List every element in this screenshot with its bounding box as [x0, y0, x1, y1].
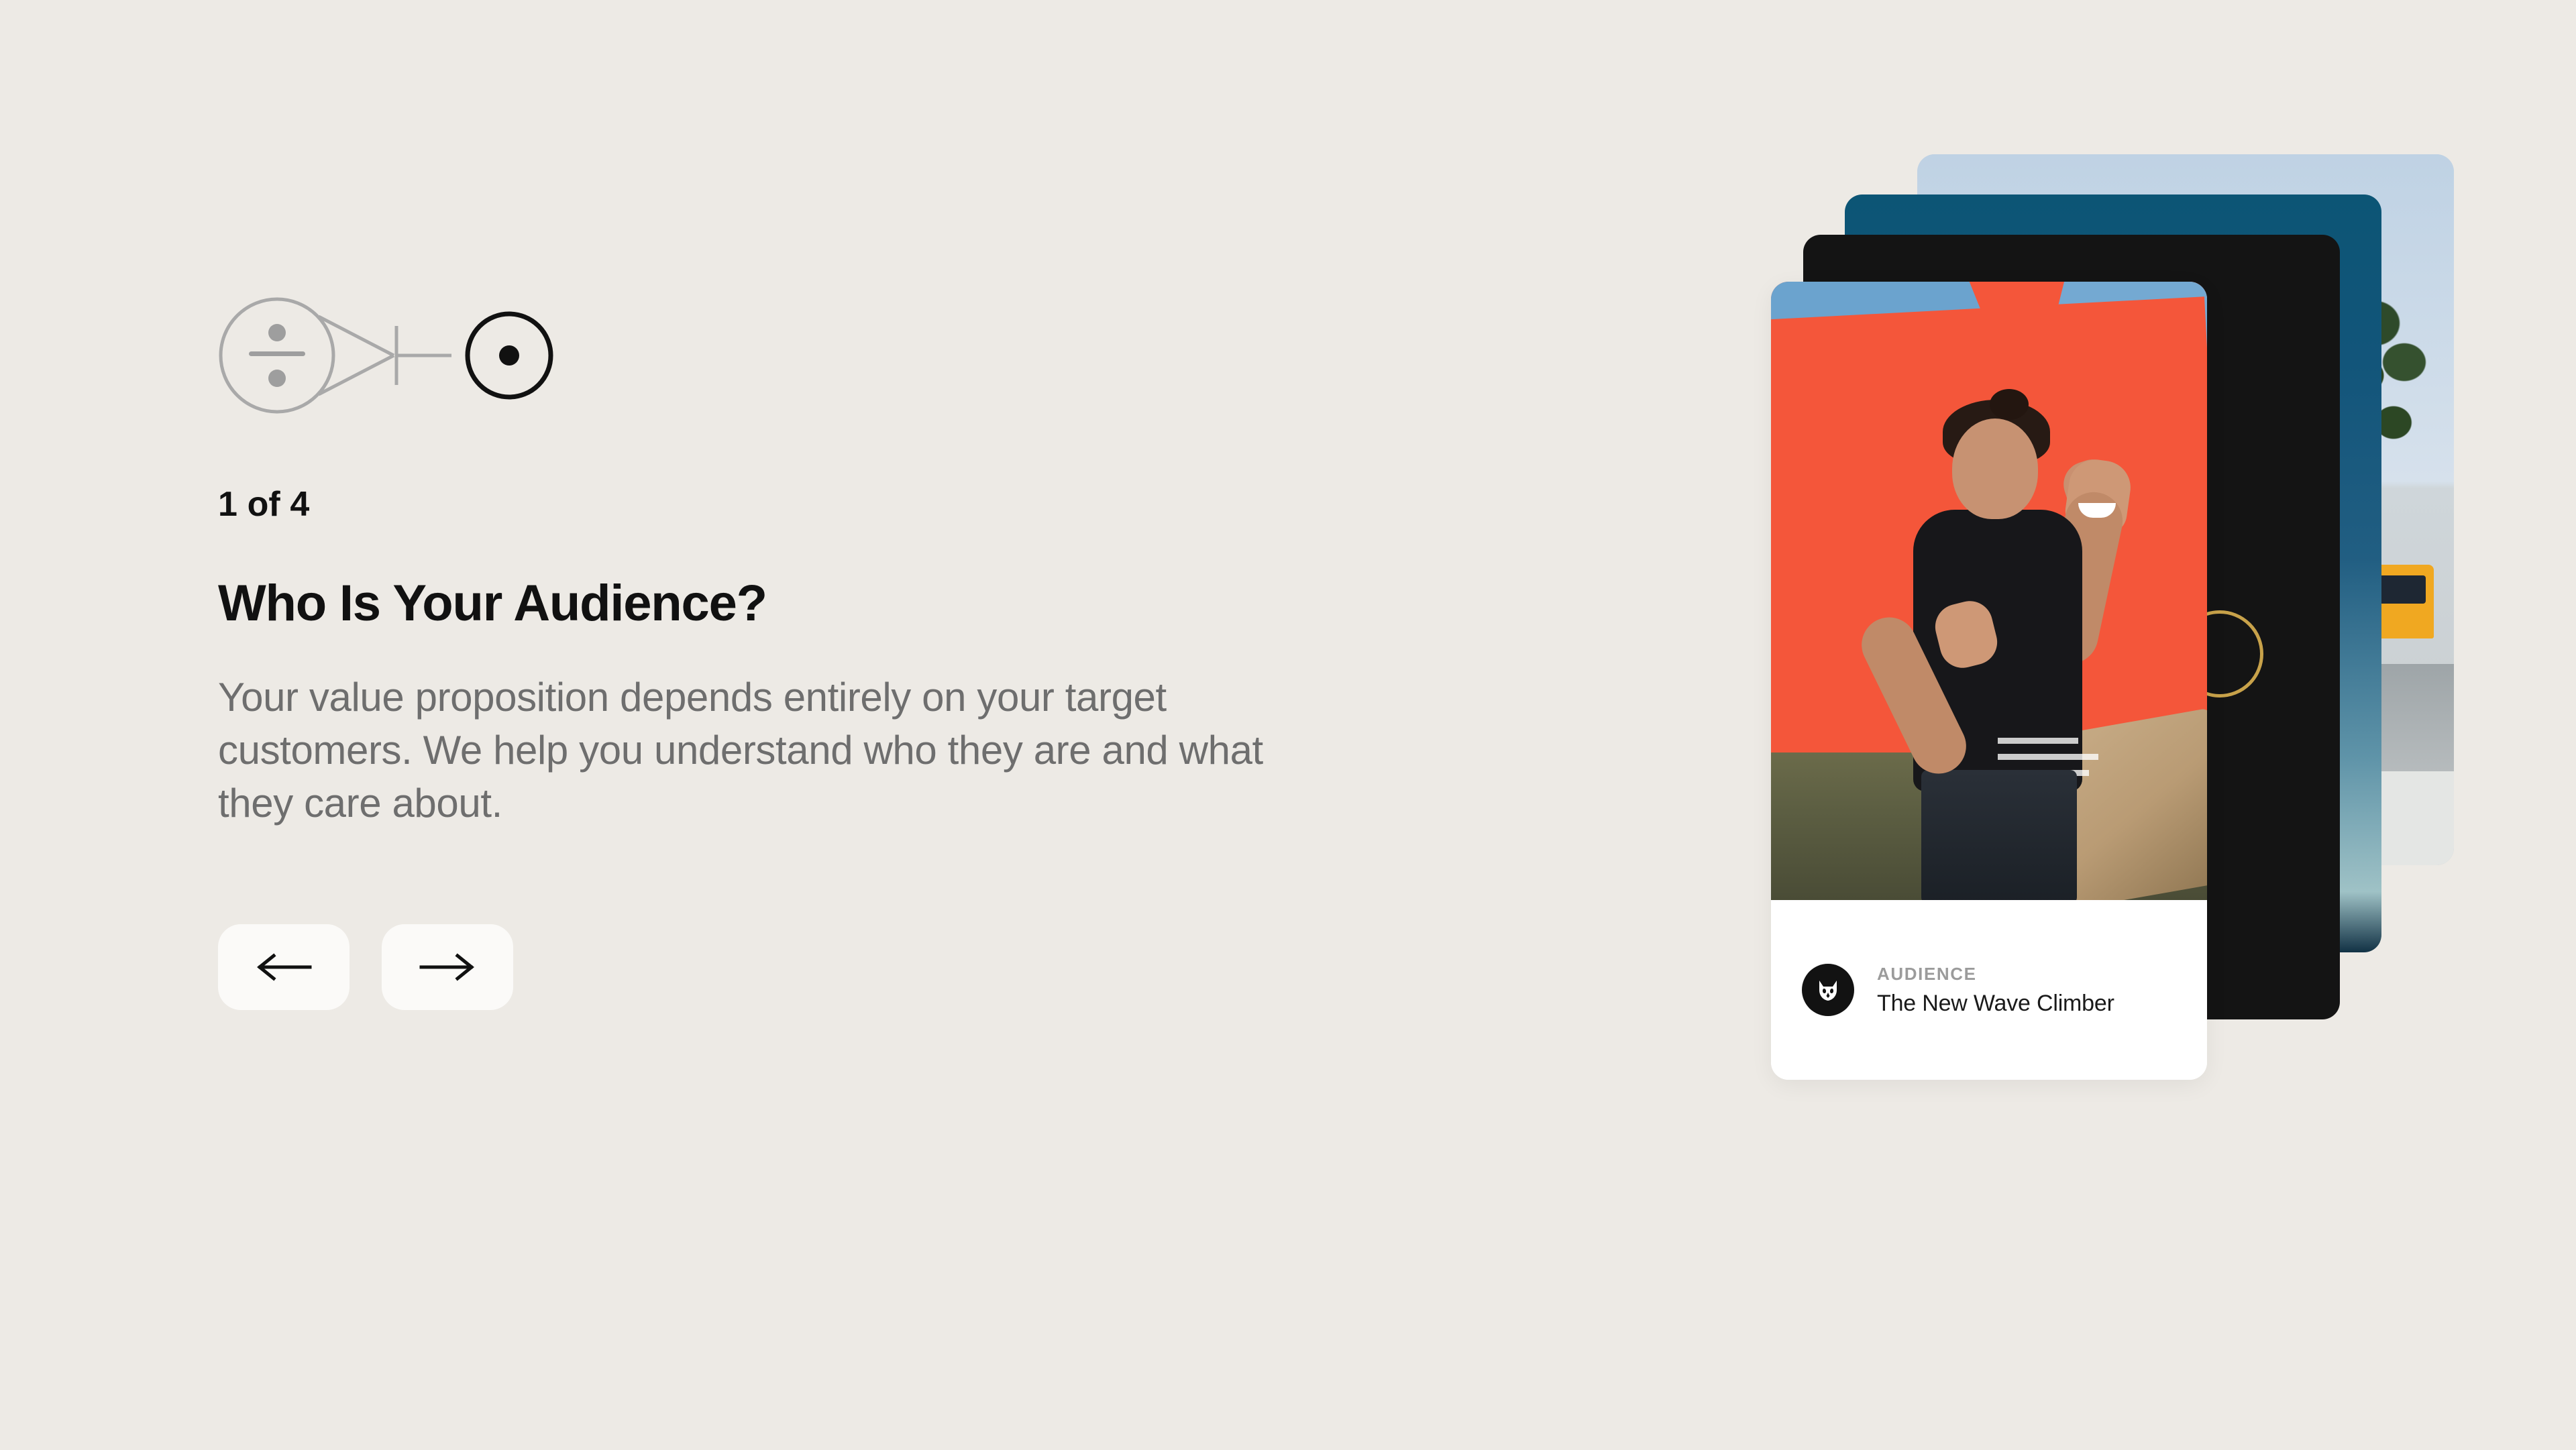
person: [1851, 390, 2133, 900]
slide-root: 1 of 4 Who Is Your Audience? Your value …: [0, 0, 2576, 1450]
arrow-right-icon: [419, 952, 476, 982]
step-counter: 1 of 4: [218, 487, 1358, 522]
audience-segmentation-icon: [218, 288, 574, 423]
audience-photo: [1771, 282, 2207, 900]
arrow-left-icon: [255, 952, 313, 982]
caption-title: The New Wave Climber: [1877, 992, 2114, 1015]
face: [1952, 419, 2038, 519]
page-title: Who Is Your Audience?: [218, 578, 1358, 629]
fox-head-icon: [1813, 975, 1843, 1005]
next-button[interactable]: [382, 924, 513, 1010]
hair-bun: [1990, 389, 2029, 420]
carousel-nav: [218, 924, 1358, 1010]
body-copy: Your value proposition depends entirely …: [218, 671, 1265, 830]
caption-kicker: AUDIENCE: [1877, 965, 2114, 983]
content-column: 1 of 4 Who Is Your Audience? Your value …: [218, 288, 1358, 1010]
caption-text: AUDIENCE The New Wave Climber: [1877, 965, 2114, 1015]
prev-button[interactable]: [218, 924, 350, 1010]
card-caption: AUDIENCE The New Wave Climber: [1771, 900, 2207, 1080]
stack-card-front[interactable]: AUDIENCE The New Wave Climber: [1771, 282, 2207, 1080]
avatar: [1802, 964, 1854, 1016]
audience-card-stack[interactable]: AUDIENCE The New Wave Climber: [1771, 154, 2321, 1201]
jeans: [1921, 770, 2077, 900]
